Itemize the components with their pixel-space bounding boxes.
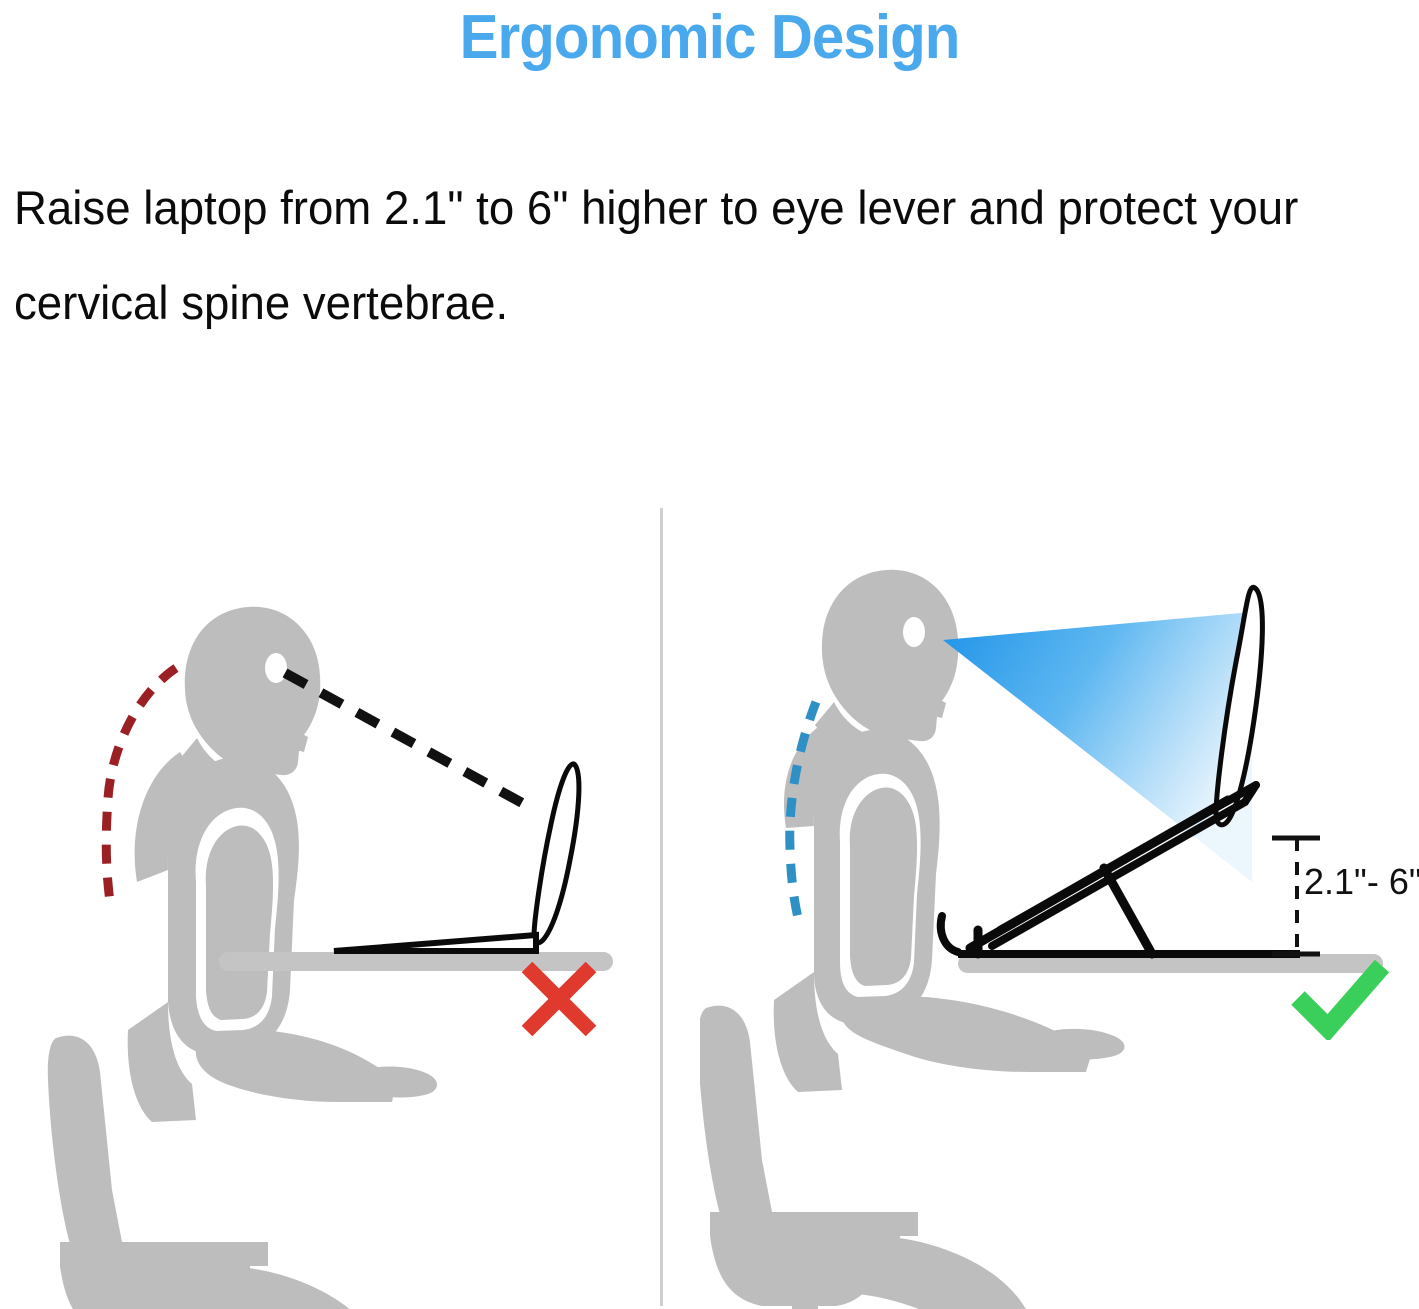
- sight-line-down: [285, 673, 524, 804]
- laptop-flat: [334, 764, 579, 951]
- eye-right-figure: [903, 617, 925, 647]
- height-dimension-label: 2.1"- 6": [1304, 862, 1419, 902]
- sight-cone: [943, 612, 1252, 882]
- cross-icon: [516, 958, 602, 1045]
- panel-divider: [660, 508, 663, 1306]
- panel-bad-posture: [0, 430, 660, 1309]
- check-icon: [1290, 960, 1390, 1045]
- description-text: Raise laptop from 2.1" to 6" higher to e…: [14, 160, 1362, 350]
- page-title: Ergonomic Design: [43, 2, 1377, 74]
- bad-posture-illustration: [0, 430, 660, 1309]
- eye-left-figure: [265, 653, 287, 683]
- illustration-area: [0, 430, 1419, 1309]
- infographic-page: Ergonomic Design Raise laptop from 2.1" …: [0, 0, 1419, 1309]
